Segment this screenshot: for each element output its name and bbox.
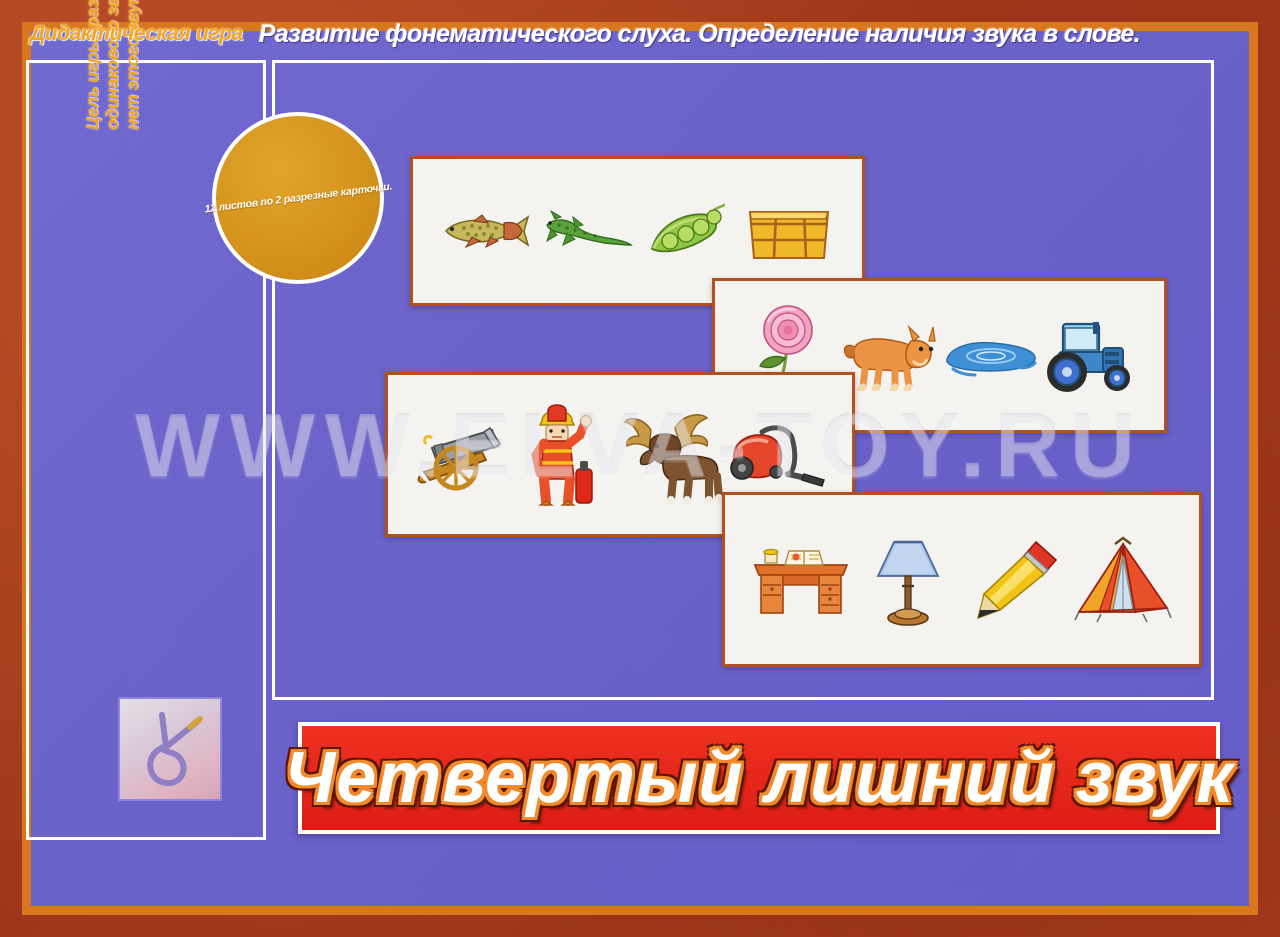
game-box-cover: Дидактическая игра Развитие фонематическ… <box>0 0 1280 937</box>
header: Дидактическая игра Развитие фонематическ… <box>0 8 1280 60</box>
firefighter-icon <box>530 397 606 513</box>
card-4-item-2 <box>966 525 1066 635</box>
card-1-item-1 <box>537 176 637 286</box>
desk-icon <box>751 541 851 619</box>
card-4-item-1 <box>858 525 958 635</box>
header-headline: Развитие фонематического слуха. Определе… <box>259 20 1140 49</box>
vacuum-cleaner-icon <box>726 418 830 492</box>
lynx-icon <box>841 321 937 391</box>
card-4-item-0 <box>751 525 851 635</box>
cannon-icon <box>412 418 514 492</box>
tent-icon <box>1071 536 1175 624</box>
card-3-item-0 <box>413 400 513 510</box>
pencil-icon <box>970 538 1062 622</box>
tractor-icon <box>1041 318 1141 394</box>
header-kicker: Дидактическая игра <box>30 22 243 46</box>
wooden-crate-icon <box>746 200 832 262</box>
card-3-item-2 <box>623 400 723 510</box>
picture-card[interactable] <box>722 492 1202 667</box>
card-1-item-3 <box>739 176 839 286</box>
publisher-mark-icon <box>132 707 208 791</box>
lizard-icon <box>541 209 633 253</box>
game-title: Четвертый лишний звук <box>284 742 1234 814</box>
card-2-item-2 <box>940 301 1040 411</box>
card-3-item-1 <box>518 400 618 510</box>
title-banner: Четвертый лишний звук <box>298 722 1220 834</box>
moose-icon <box>621 406 725 504</box>
card-1-item-2 <box>638 176 738 286</box>
contents-badge-text: 12 листов по 2 разрезные карточки. <box>204 181 393 216</box>
card-1-item-0 <box>436 176 536 286</box>
pike-fish-icon <box>438 209 534 253</box>
card-2-item-3 <box>1041 301 1141 411</box>
pea-pod-icon <box>646 203 730 259</box>
puddle-icon <box>941 333 1039 379</box>
publisher-logo <box>118 697 222 801</box>
contents-badge: 12 листов по 2 разрезные карточки. <box>212 112 384 284</box>
card-4-item-3 <box>1073 525 1173 635</box>
table-lamp-icon <box>868 530 948 630</box>
